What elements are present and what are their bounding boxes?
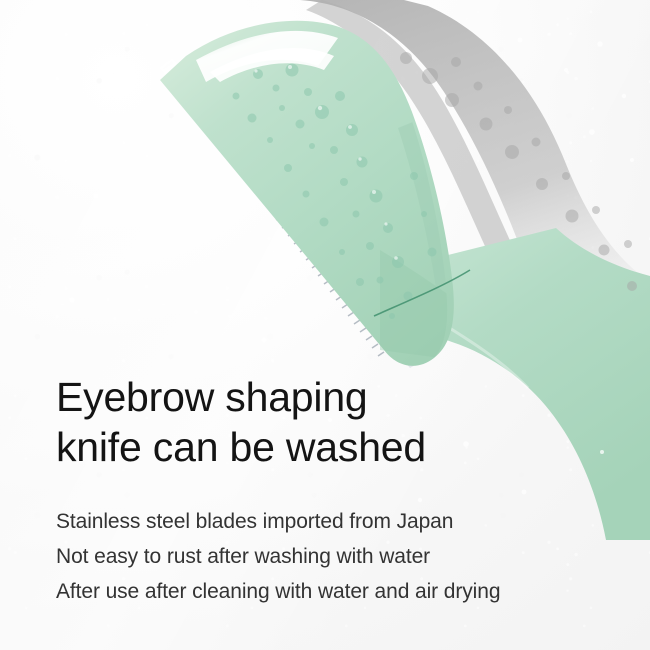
copy-block: Eyebrow shaping knife can be washed Stai… xyxy=(56,372,616,609)
page-title: Eyebrow shaping knife can be washed xyxy=(56,372,616,472)
feature-list: Stainless steel blades imported from Jap… xyxy=(56,504,616,609)
list-item: Not easy to rust after washing with wate… xyxy=(56,539,616,574)
list-item: Stainless steel blades imported from Jap… xyxy=(56,504,616,539)
list-item: After use after cleaning with water and … xyxy=(56,574,616,609)
product-banner: Eyebrow shaping knife can be washed Stai… xyxy=(0,0,650,650)
